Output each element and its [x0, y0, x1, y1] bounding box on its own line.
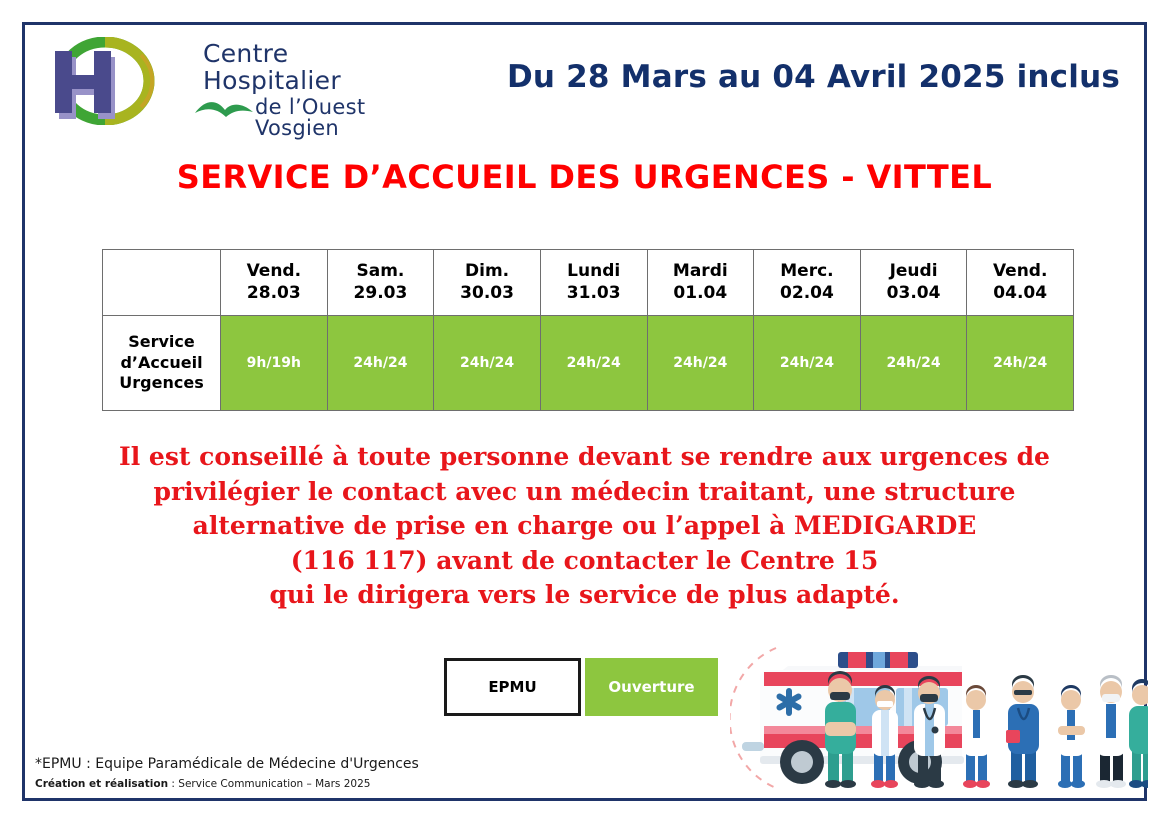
- footnote-epmu: *EPMU : Equipe Paramédicale de Médecine …: [35, 756, 555, 772]
- slot-cell-7: 24h/24: [967, 316, 1074, 411]
- slot-cell-2: 24h/24: [434, 316, 541, 411]
- staff-figure-green-scrubs: [825, 671, 856, 788]
- row-label-service-accueil-urgences: Service d’Accueil Urgences: [103, 316, 221, 411]
- ambulance-medical-staff-illustration: AMBULANCE: [730, 630, 1148, 798]
- slot-cell-1: 24h/24: [327, 316, 434, 411]
- credit-value: : Service Communication – Mars 2025: [168, 778, 370, 790]
- row-label-line2: d’Accueil: [103, 353, 220, 374]
- advisory-line-3: alternative de prise en charge ou l’appe…: [25, 509, 1144, 544]
- logo-line-ouest-vosgien: de l’Ouest Vosgien: [255, 97, 421, 139]
- header-cell-day-0: Vend. 28.03: [221, 250, 328, 316]
- header-cell-day-7: Vend. 04.04: [967, 250, 1074, 316]
- legend-item-ouverture: Ouverture: [585, 658, 718, 716]
- page-title: SERVICE D’ACCUEIL DES URGENCES - VITTEL: [25, 158, 1144, 196]
- slot-cell-4: 24h/24: [647, 316, 754, 411]
- advisory-line-2: privilégier le contact avec un médecin t…: [25, 475, 1144, 510]
- day-date: 04.04: [967, 283, 1073, 304]
- hospital-logo: Centre Hospitalier de l’Ouest Vosgien: [43, 33, 423, 131]
- credit-label: Création et réalisation: [35, 778, 168, 790]
- header-cell-day-1: Sam. 29.03: [327, 250, 434, 316]
- slot-cell-0: 9h/19h: [221, 316, 328, 411]
- header-cell-day-2: Dim. 30.03: [434, 250, 541, 316]
- day-name: Merc.: [780, 261, 833, 281]
- staff-figure-teal-scrubs: [1129, 679, 1148, 788]
- staff-figure-blue-scrubs-1: [1006, 675, 1039, 788]
- green-swoosh-icon: [195, 97, 257, 121]
- day-date: 29.03: [328, 283, 434, 304]
- logo-line-hospitalier: Hospitalier: [203, 68, 341, 93]
- legend: EPMU Ouverture: [444, 658, 740, 716]
- header-cell-day-3: Lundi 31.03: [540, 250, 647, 316]
- table-header-row: Vend. 28.03 Sam. 29.03 Dim. 30.03 Lundi …: [103, 250, 1074, 316]
- day-date: 28.03: [221, 283, 327, 304]
- staff-figure-white-coat-1: [871, 685, 898, 788]
- row-label-line3: Urgences: [103, 373, 220, 394]
- date-range-title: Du 28 Mars au 04 Avril 2025 inclus: [507, 59, 1120, 95]
- day-name: Vend.: [993, 261, 1048, 281]
- day-date: 31.03: [541, 283, 647, 304]
- header-cell-day-6: Jeudi 03.04: [860, 250, 967, 316]
- advisory-line-4: (116 117) avant de contacter le Centre 1…: [25, 544, 1144, 579]
- day-name: Mardi: [673, 261, 728, 281]
- day-date: 30.03: [434, 283, 540, 304]
- logo-line-centre: Centre: [203, 41, 288, 66]
- h-monogram-ellipse-logo: [43, 37, 163, 125]
- logo-wordmark: Centre Hospitalier de l’Ouest Vosgien: [165, 39, 421, 131]
- table-row: Service d’Accueil Urgences 9h/19h 24h/24…: [103, 316, 1074, 411]
- header-cell-day-5: Merc. 02.04: [754, 250, 861, 316]
- staff-figure-white-coat-2: [963, 685, 990, 788]
- day-name: Jeudi: [890, 261, 938, 281]
- poster-footer: *EPMU : Equipe Paramédicale de Médecine …: [35, 756, 555, 790]
- poster-header: Centre Hospitalier de l’Ouest Vosgien Du…: [25, 25, 1144, 135]
- schedule-table: Vend. 28.03 Sam. 29.03 Dim. 30.03 Lundi …: [102, 249, 1074, 411]
- day-name: Sam.: [356, 261, 404, 281]
- slot-cell-3: 24h/24: [540, 316, 647, 411]
- advisory-line-1: Il est conseillé à toute personne devant…: [25, 440, 1144, 475]
- header-cell-day-4: Mardi 01.04: [647, 250, 754, 316]
- day-date: 02.04: [754, 283, 860, 304]
- advisory-line-5: qui le dirigera vers le service de plus …: [25, 578, 1144, 613]
- day-date: 03.04: [861, 283, 967, 304]
- day-name: Lundi: [567, 261, 620, 281]
- staff-figure-white-coat-3: [1058, 685, 1085, 788]
- day-name: Dim.: [465, 261, 509, 281]
- slot-cell-6: 24h/24: [860, 316, 967, 411]
- staff-figure-senior-doctor: [1096, 675, 1126, 788]
- advisory-text: Il est conseillé à toute personne devant…: [25, 440, 1144, 613]
- day-date: 01.04: [648, 283, 754, 304]
- day-name: Vend.: [247, 261, 302, 281]
- row-label-line1: Service: [103, 332, 220, 353]
- poster-frame: Centre Hospitalier de l’Ouest Vosgien Du…: [22, 22, 1147, 801]
- slot-cell-5: 24h/24: [754, 316, 861, 411]
- legend-item-epmu: EPMU: [444, 658, 581, 716]
- header-corner-cell: [103, 250, 221, 316]
- credit-line: Création et réalisation : Service Commun…: [35, 778, 555, 790]
